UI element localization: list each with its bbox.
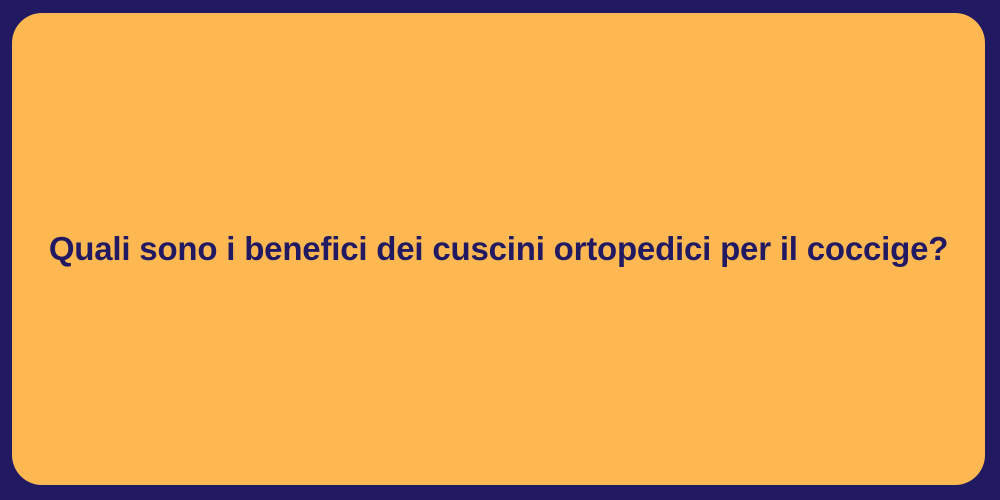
outer-border-frame: Quali sono i benefici dei cuscini ortope…	[0, 0, 1000, 500]
page-title: Quali sono i benefici dei cuscini ortope…	[49, 228, 948, 269]
content-panel: Quali sono i benefici dei cuscini ortope…	[12, 13, 985, 485]
